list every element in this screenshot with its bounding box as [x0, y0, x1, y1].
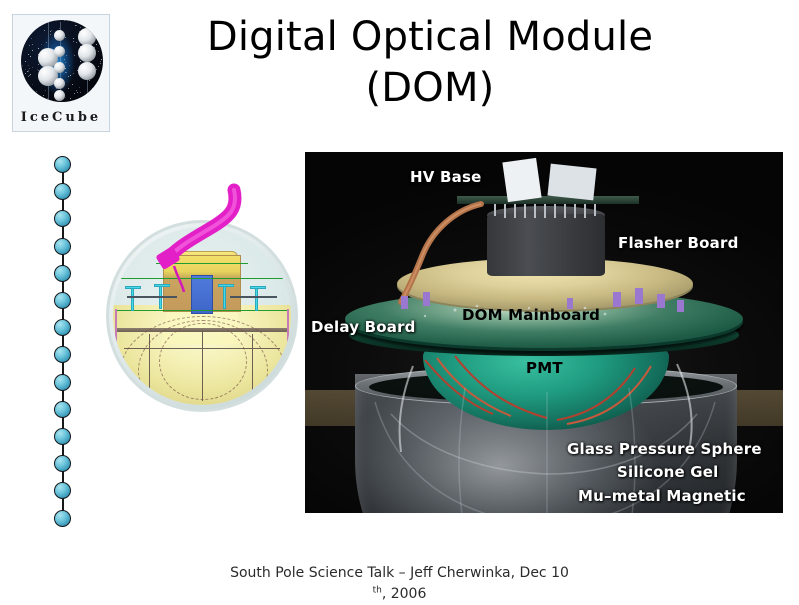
logo-star	[97, 94, 98, 95]
logo-star	[50, 31, 51, 32]
logo-star	[26, 96, 27, 97]
logo-star	[98, 51, 99, 52]
logo-star	[68, 76, 69, 77]
photo-label-pmt: PMT	[526, 359, 563, 377]
logo-star	[64, 20, 65, 21]
logo-star	[66, 55, 67, 56]
dom-string-bead	[54, 210, 71, 227]
cutaway-harness	[230, 296, 276, 298]
logo-star	[65, 62, 66, 63]
photo-label-silicone-gel: Silicone Gel	[617, 463, 719, 481]
logo-star	[96, 44, 97, 45]
page-title: Digital Optical Module (DOM)	[130, 12, 730, 114]
logo-star	[97, 35, 98, 36]
logo-star	[30, 74, 31, 75]
logo-sphere	[54, 90, 65, 101]
dom-string-bead	[54, 156, 71, 173]
logo-star	[76, 90, 77, 91]
cutaway-connector-bar	[250, 286, 266, 289]
logo-star	[37, 21, 38, 22]
logo-star	[26, 22, 27, 23]
logo-sphere	[78, 44, 96, 62]
logo-star	[29, 68, 30, 69]
photo-label-flasher-board: Flasher Board	[618, 234, 739, 252]
photo-label-glass-pressure-sphere: Glass Pressure Sphere	[567, 440, 762, 458]
icecube-logo: IceCube	[12, 14, 110, 132]
logo-sphere	[54, 30, 65, 41]
logo-star	[66, 72, 67, 73]
logo-star	[38, 64, 39, 65]
logo-star	[25, 69, 26, 70]
logo-star	[32, 67, 33, 68]
logo-star	[101, 59, 102, 60]
logo-star	[94, 96, 95, 97]
logo-star	[64, 59, 65, 60]
cutaway-penetrator-cable-icon	[134, 182, 252, 292]
logo-star	[89, 98, 90, 99]
dom-cutaway-diagram	[98, 182, 306, 430]
dom-string-bead	[54, 319, 71, 336]
hv-base-circuit-board	[457, 196, 639, 204]
dom-string-bead	[54, 482, 71, 499]
logo-star	[51, 30, 52, 31]
logo-star	[74, 93, 75, 94]
cutaway-connector-pin	[255, 288, 258, 311]
logo-star	[28, 71, 29, 72]
logo-star	[28, 54, 29, 55]
logo-star	[80, 27, 81, 28]
logo-star	[79, 87, 80, 88]
dom-string-bead	[54, 292, 71, 309]
logo-sphere	[78, 62, 96, 80]
photo-label-hv-base: HV Base	[410, 168, 481, 186]
logo-star	[32, 84, 33, 85]
dom-string-illustration	[48, 152, 78, 530]
logo-star	[72, 84, 73, 85]
logo-star	[98, 66, 99, 67]
logo-star	[70, 98, 71, 99]
logo-star	[76, 25, 77, 26]
logo-star	[36, 91, 37, 92]
icecube-wordmark: IceCube	[13, 110, 109, 125]
logo-star	[74, 55, 75, 56]
logo-star	[38, 48, 39, 49]
logo-star	[29, 29, 30, 30]
logo-star	[100, 84, 101, 85]
dom-string-bead	[54, 455, 71, 472]
logo-sphere	[54, 62, 65, 73]
logo-star	[28, 70, 29, 71]
dom-string-bead	[54, 428, 71, 445]
logo-star	[73, 41, 74, 42]
logo-star	[25, 73, 26, 74]
logo-star	[97, 28, 98, 29]
logo-star	[100, 95, 101, 96]
logo-star	[28, 65, 29, 66]
logo-star	[74, 20, 75, 21]
dom-string-bead	[54, 183, 71, 200]
logo-star	[100, 63, 101, 64]
logo-star	[68, 88, 69, 89]
logo-star	[32, 99, 33, 100]
cutaway-reference-line	[117, 310, 288, 311]
dom-string-bead	[54, 265, 71, 282]
logo-star	[80, 61, 81, 62]
logo-star	[26, 26, 27, 27]
logo-star	[29, 45, 30, 46]
logo-star	[32, 44, 33, 45]
logo-star	[89, 80, 90, 81]
logo-star	[77, 92, 78, 93]
icecube-logo-disc	[21, 20, 103, 102]
logo-star	[65, 97, 66, 98]
logo-star	[70, 75, 71, 76]
dom-string-bead	[54, 401, 71, 418]
logo-star	[50, 34, 51, 35]
dom-photograph: HV Base Flasher Board DOM Mainboard Dela…	[305, 152, 783, 513]
logo-star	[32, 27, 33, 28]
logo-star	[25, 61, 26, 62]
logo-star	[96, 93, 97, 94]
slide-footer: South Pole Science Talk – Jeff Cherwinka…	[0, 563, 799, 605]
logo-star	[100, 45, 101, 46]
logo-star	[44, 30, 45, 31]
logo-star	[76, 42, 77, 43]
logo-star	[69, 65, 70, 66]
logo-star	[23, 79, 24, 80]
footer-line-1: South Pole Science Talk – Jeff Cherwinka…	[230, 565, 569, 581]
footer-superscript: th	[373, 585, 382, 595]
logo-star	[30, 56, 31, 57]
logo-star	[100, 61, 101, 62]
logo-star	[73, 38, 74, 39]
dom-string-bead	[54, 346, 71, 363]
logo-star	[22, 65, 23, 66]
logo-star	[39, 95, 40, 96]
logo-star	[25, 87, 26, 88]
logo-star	[101, 27, 102, 28]
logo-star	[31, 38, 32, 39]
logo-star	[32, 50, 33, 51]
logo-star	[41, 44, 42, 45]
photo-label-delay-board: Delay Board	[311, 318, 416, 336]
logo-star	[80, 92, 81, 93]
dom-string-bead	[54, 510, 71, 527]
logo-star	[26, 92, 27, 93]
cutaway-harness	[127, 296, 177, 298]
logo-star	[99, 32, 100, 33]
logo-star	[82, 101, 83, 102]
photo-label-dom-mainboard: DOM Mainboard	[462, 306, 600, 324]
dom-string-bead	[54, 238, 71, 255]
logo-star	[29, 75, 30, 76]
logo-sphere	[54, 46, 65, 57]
logo-star	[92, 88, 93, 89]
hv-base-cylinder	[487, 214, 605, 276]
logo-star	[28, 76, 29, 77]
logo-star	[25, 81, 26, 82]
dom-string-bead	[54, 374, 71, 391]
logo-star	[73, 73, 74, 74]
logo-star	[45, 90, 46, 91]
title-line-2: (DOM)	[130, 63, 730, 114]
logo-star	[43, 95, 44, 96]
logo-sphere	[54, 78, 65, 89]
logo-star	[25, 85, 26, 86]
logo-star	[92, 101, 93, 102]
logo-star	[100, 42, 101, 43]
logo-star	[92, 90, 93, 91]
title-line-1: Digital Optical Module	[130, 12, 730, 63]
photo-label-mu-metal: Mu–metal Magnetic	[578, 487, 746, 505]
